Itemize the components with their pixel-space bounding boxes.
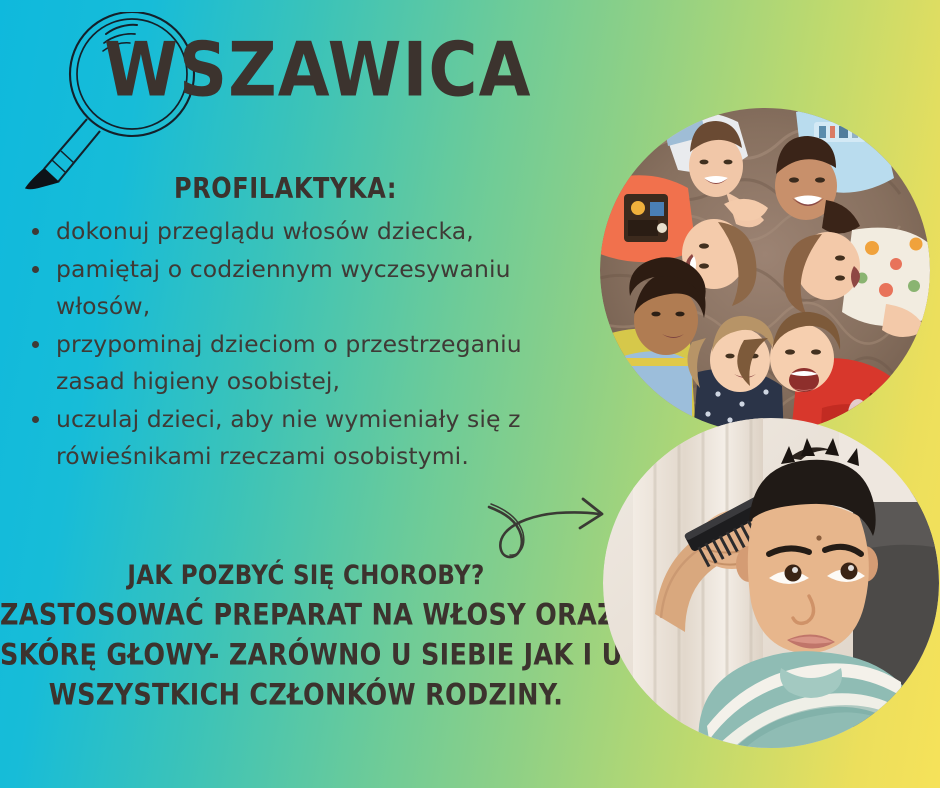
list-item: dokonuj przeglądu włosów dziecka,	[26, 213, 596, 250]
section-heading: PROFILAKTYKA:	[174, 172, 397, 205]
children-lying-in-circle-photo	[600, 108, 930, 433]
curly-arrow-doodle	[487, 483, 627, 592]
boy-combing-hair-photo	[603, 418, 939, 748]
footer-line: WSZYSTKICH CZŁONKÓW RODZINY.	[0, 672, 612, 718]
prevention-list: dokonuj przeglądu włosów dziecka, pamięt…	[26, 213, 596, 476]
poster-canvas: WSZAWICA PROFILAKTYKA: dokonuj przeglądu…	[0, 0, 940, 788]
list-item: przypominaj dzieciom o przestrzeganiu za…	[26, 326, 596, 400]
page-title: WSZAWICA	[104, 33, 531, 108]
list-item: pamiętaj o codziennym wyczesywaniu włosó…	[26, 251, 596, 325]
list-item: uczulaj dzieci, aby nie wymieniały się z…	[26, 401, 596, 475]
